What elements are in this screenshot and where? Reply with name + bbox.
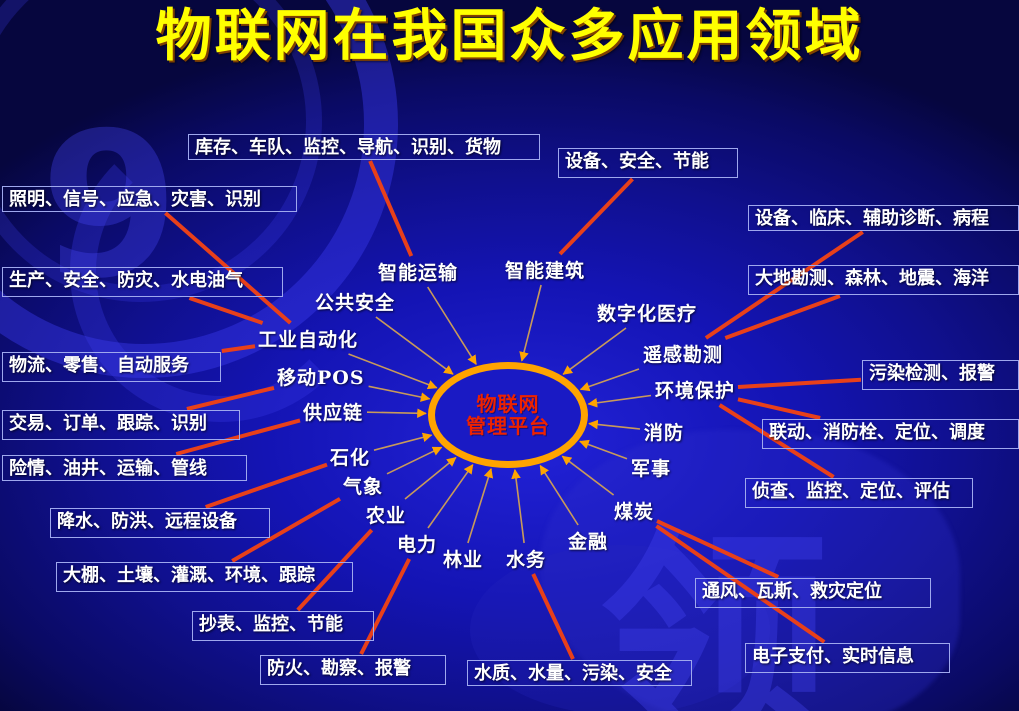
detail-box: 库存、车队、监控、导航、识别、货物 <box>188 134 540 160</box>
detail-box: 物流、零售、自动服务 <box>2 352 221 382</box>
spoke-label: 供应链 <box>303 398 363 425</box>
hub-line-2: 管理平台 <box>466 415 550 437</box>
slide-canvas: 领 9 物联网在我国众多应用领域 物联网 管理平台 智能运输智能建筑公共安全工业… <box>0 0 1019 711</box>
detail-box: 大地勘测、森林、地震、海洋 <box>748 265 1019 295</box>
detail-box: 电子支付、实时信息 <box>745 643 950 673</box>
detail-box: 水质、水量、污染、安全 <box>467 660 692 686</box>
detail-box: 大棚、土壤、灌溉、环境、跟踪 <box>56 562 353 592</box>
spoke-label: 军事 <box>631 454 671 481</box>
spoke-label: 林业 <box>443 545 483 572</box>
spoke-label: 水务 <box>506 545 546 572</box>
spoke-label: 数字化医疗 <box>597 299 697 326</box>
detail-box: 抄表、监控、节能 <box>192 611 374 641</box>
detail-box: 交易、订单、跟踪、识别 <box>2 410 240 440</box>
spoke-label: 智能运输 <box>378 258 458 285</box>
spoke-label: 煤炭 <box>614 497 654 524</box>
detail-box: 降水、防洪、远程设备 <box>50 508 270 538</box>
central-hub: 物联网 管理平台 <box>428 362 588 468</box>
spoke-label: 金融 <box>568 527 608 554</box>
spoke-label: 环境保护 <box>655 376 735 403</box>
spoke-label: 气象 <box>343 472 383 499</box>
spoke-label: 工业自动化 <box>258 325 358 352</box>
hub-line-1: 物联网 <box>477 393 540 415</box>
detail-box: 照明、信号、应急、灾害、识别 <box>2 186 297 212</box>
spoke-label: 智能建筑 <box>505 256 585 283</box>
detail-box: 污染检测、报警 <box>862 360 1019 390</box>
spoke-label: 遥感勘测 <box>643 340 723 367</box>
spoke-label: 电力 <box>397 530 437 557</box>
detail-box: 侦查、监控、定位、评估 <box>745 478 973 508</box>
detail-box: 生产、安全、防灾、水电油气 <box>2 267 283 297</box>
spoke-label: 移动POS <box>277 363 365 390</box>
detail-box: 联动、消防栓、定位、调度 <box>762 419 1019 449</box>
detail-box: 防火、勘察、报警 <box>260 655 446 685</box>
spoke-label: 农业 <box>366 501 406 528</box>
spoke-label: 石化 <box>330 443 370 470</box>
detail-box: 设备、临床、辅助诊断、病程 <box>748 205 1019 231</box>
detail-box: 通风、瓦斯、救灾定位 <box>695 578 931 608</box>
detail-box: 险情、油井、运输、管线 <box>2 455 247 481</box>
detail-box: 设备、安全、节能 <box>558 148 738 178</box>
spoke-label: 消防 <box>644 418 684 445</box>
spoke-label: 公共安全 <box>315 288 395 315</box>
